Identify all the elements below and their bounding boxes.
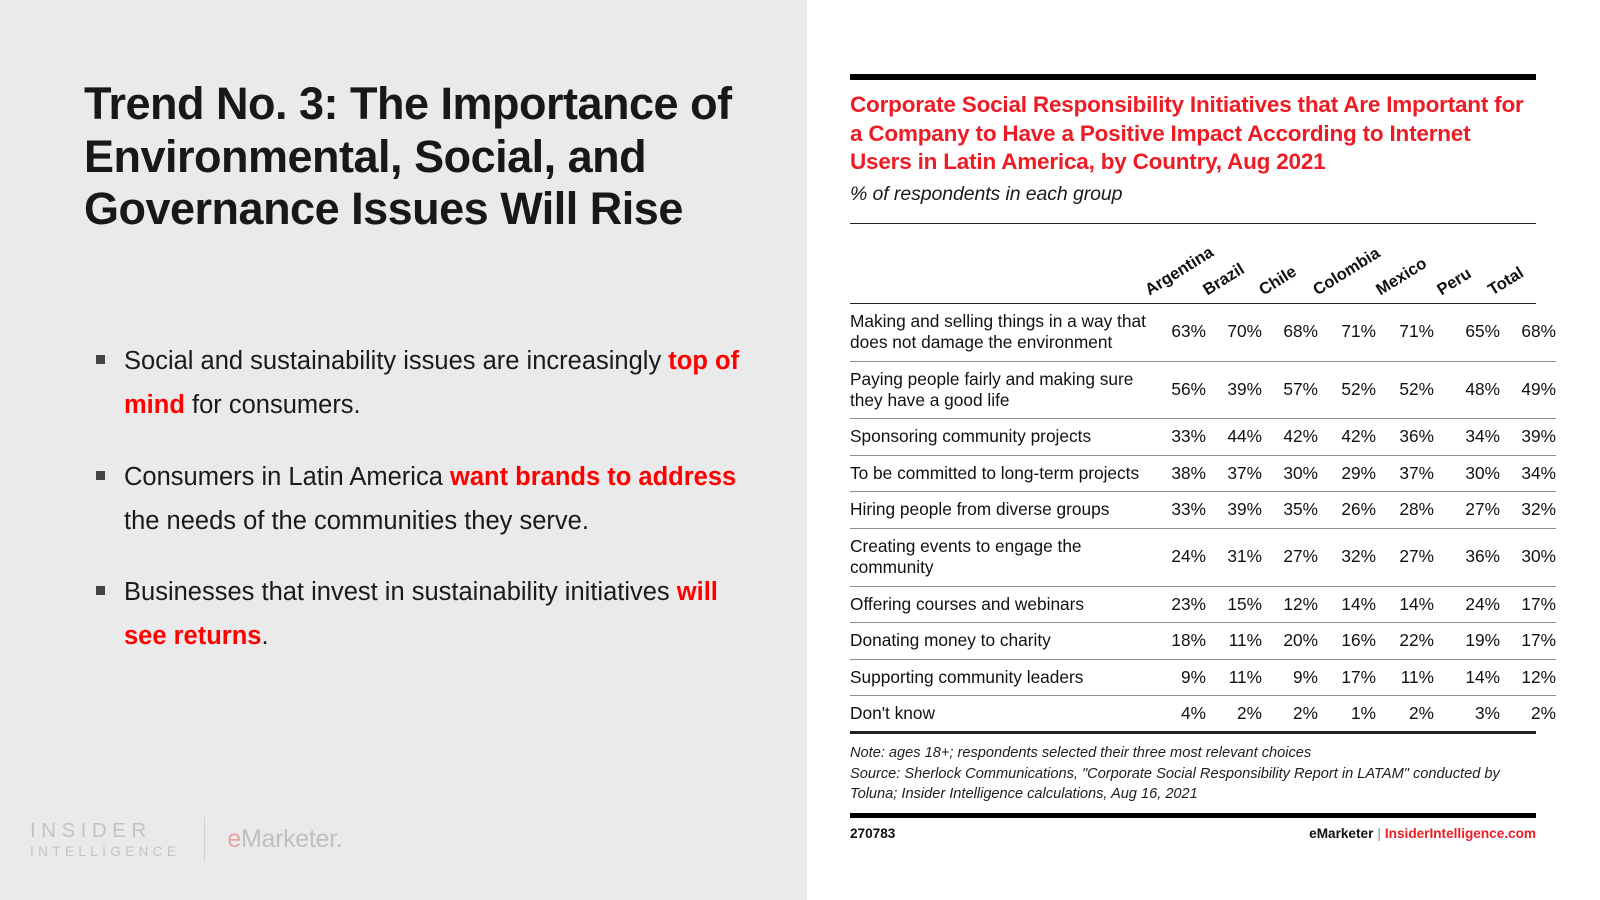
table-column-header-row: ArgentinaBrazilChileColombiaMexicoPeruTo… xyxy=(850,223,1536,304)
cell-peru: 48% xyxy=(1434,361,1500,419)
cell-total: 39% xyxy=(1500,419,1556,455)
cell-colombia: 71% xyxy=(1318,304,1376,361)
table-row: Paying people fairly and making sure the… xyxy=(850,361,1556,419)
insider-logo-line1: INSIDER xyxy=(30,818,180,843)
column-header-brazil: Brazil xyxy=(1200,260,1248,300)
cell-brazil: 39% xyxy=(1206,361,1262,419)
table-row: Don't know4%2%2%1%2%3%2% xyxy=(850,695,1556,731)
table-row: Offering courses and webinars23%15%12%14… xyxy=(850,586,1556,622)
cell-total: 68% xyxy=(1500,304,1556,361)
cell-chile: 68% xyxy=(1262,304,1318,361)
table-row: Hiring people from diverse groups33%39%3… xyxy=(850,492,1556,528)
cell-brazil: 31% xyxy=(1206,528,1262,586)
cell-peru: 27% xyxy=(1434,492,1500,528)
cell-total: 30% xyxy=(1500,528,1556,586)
cell-total: 17% xyxy=(1500,623,1556,659)
cell-total: 49% xyxy=(1500,361,1556,419)
cell-colombia: 16% xyxy=(1318,623,1376,659)
chart-card: Corporate Social Responsibility Initiati… xyxy=(850,74,1536,841)
bullet-text-pre: Consumers in Latin America xyxy=(124,463,450,491)
key-takeaways-list: Social and sustainability issues are inc… xyxy=(92,340,742,687)
cell-peru: 36% xyxy=(1434,528,1500,586)
row-label: Paying people fairly and making sure the… xyxy=(850,361,1150,419)
cell-peru: 3% xyxy=(1434,695,1500,731)
cell-total: 34% xyxy=(1500,455,1556,491)
table-row: Supporting community leaders9%11%9%17%11… xyxy=(850,659,1556,695)
cell-peru: 65% xyxy=(1434,304,1500,361)
cell-total: 32% xyxy=(1500,492,1556,528)
bullet-square-icon xyxy=(96,586,105,595)
column-header-colombia: Colombia xyxy=(1310,244,1384,300)
cell-mexico: 27% xyxy=(1376,528,1434,586)
cell-colombia: 14% xyxy=(1318,586,1376,622)
chart-subtitle: % of respondents in each group xyxy=(850,183,1536,206)
list-item: Consumers in Latin America want brands t… xyxy=(92,456,742,544)
cell-brazil: 11% xyxy=(1206,659,1262,695)
bullet-text-emphasis: want brands to address xyxy=(450,463,736,491)
column-header-chile: Chile xyxy=(1256,262,1300,299)
chart-title: Corporate Social Responsibility Initiati… xyxy=(850,91,1536,177)
cell-colombia: 52% xyxy=(1318,361,1376,419)
cell-colombia: 26% xyxy=(1318,492,1376,528)
cell-mexico: 37% xyxy=(1376,455,1434,491)
cell-peru: 30% xyxy=(1434,455,1500,491)
insider-intelligence-logo: INSIDER INTELLIGENCE xyxy=(30,818,180,861)
cell-mexico: 36% xyxy=(1376,419,1434,455)
row-label: Sponsoring community projects xyxy=(850,419,1150,455)
chart-notes: Note: ages 18+; respondents selected the… xyxy=(850,734,1536,812)
bullet-square-icon xyxy=(96,355,105,364)
cell-brazil: 39% xyxy=(1206,492,1262,528)
footer-emarketer: eMarketer xyxy=(1309,826,1373,841)
row-label: Hiring people from diverse groups xyxy=(850,492,1150,528)
table-row: Creating events to engage the community2… xyxy=(850,528,1556,586)
page-title: Trend No. 3: The Importance of Environme… xyxy=(84,78,774,236)
cell-mexico: 22% xyxy=(1376,623,1434,659)
footer-separator: | xyxy=(1373,826,1385,841)
cell-peru: 19% xyxy=(1434,623,1500,659)
row-label: Making and selling things in a way that … xyxy=(850,304,1150,361)
table-row: Sponsoring community projects33%44%42%42… xyxy=(850,419,1556,455)
cell-chile: 57% xyxy=(1262,361,1318,419)
cell-argentina: 18% xyxy=(1150,623,1206,659)
cell-brazil: 37% xyxy=(1206,455,1262,491)
cell-total: 12% xyxy=(1500,659,1556,695)
emarketer-logo-text: Marketer. xyxy=(241,825,343,853)
bullet-text-post: for consumers. xyxy=(185,391,361,419)
cell-chile: 20% xyxy=(1262,623,1318,659)
chart-footer: 270783 eMarketer|InsiderIntelligence.com xyxy=(850,818,1536,841)
cell-mexico: 71% xyxy=(1376,304,1434,361)
column-header-peru: Peru xyxy=(1434,264,1475,300)
data-table: Making and selling things in a way that … xyxy=(850,304,1556,732)
row-label: To be committed to long-term projects xyxy=(850,455,1150,491)
cell-peru: 14% xyxy=(1434,659,1500,695)
cell-chile: 35% xyxy=(1262,492,1318,528)
bullet-text-post: the needs of the communities they serve. xyxy=(124,507,589,535)
cell-brazil: 44% xyxy=(1206,419,1262,455)
cell-brazil: 15% xyxy=(1206,586,1262,622)
chart-id: 270783 xyxy=(850,826,895,841)
bullet-text-post: . xyxy=(262,622,269,650)
row-label: Donating money to charity xyxy=(850,623,1150,659)
cell-total: 17% xyxy=(1500,586,1556,622)
emarketer-logo-e: e xyxy=(227,825,241,853)
cell-colombia: 32% xyxy=(1318,528,1376,586)
row-label: Don't know xyxy=(850,695,1150,731)
footer-site-link[interactable]: InsiderIntelligence.com xyxy=(1385,826,1536,841)
cell-argentina: 38% xyxy=(1150,455,1206,491)
cell-chile: 12% xyxy=(1262,586,1318,622)
cell-chile: 9% xyxy=(1262,659,1318,695)
chart-top-rule xyxy=(850,74,1536,80)
cell-chile: 30% xyxy=(1262,455,1318,491)
cell-mexico: 2% xyxy=(1376,695,1434,731)
cell-chile: 42% xyxy=(1262,419,1318,455)
bullet-text-pre: Social and sustainability issues are inc… xyxy=(124,347,668,375)
cell-brazil: 70% xyxy=(1206,304,1262,361)
table-row: Making and selling things in a way that … xyxy=(850,304,1556,361)
table-row: Donating money to charity18%11%20%16%22%… xyxy=(850,623,1556,659)
logo-divider xyxy=(204,817,205,861)
cell-argentina: 33% xyxy=(1150,492,1206,528)
insider-logo-line2: INTELLIGENCE xyxy=(30,843,180,861)
cell-brazil: 2% xyxy=(1206,695,1262,731)
cell-peru: 24% xyxy=(1434,586,1500,622)
row-label: Creating events to engage the community xyxy=(850,528,1150,586)
bullet-text-pre: Businesses that invest in sustainability… xyxy=(124,578,677,606)
cell-mexico: 11% xyxy=(1376,659,1434,695)
cell-mexico: 28% xyxy=(1376,492,1434,528)
cell-argentina: 24% xyxy=(1150,528,1206,586)
cell-total: 2% xyxy=(1500,695,1556,731)
cell-colombia: 17% xyxy=(1318,659,1376,695)
cell-colombia: 29% xyxy=(1318,455,1376,491)
cell-peru: 34% xyxy=(1434,419,1500,455)
left-content-panel: Trend No. 3: The Importance of Environme… xyxy=(0,0,807,900)
cell-colombia: 42% xyxy=(1318,419,1376,455)
emarketer-logo: eMarketer. xyxy=(227,825,342,854)
list-item: Businesses that invest in sustainability… xyxy=(92,571,742,659)
cell-argentina: 33% xyxy=(1150,419,1206,455)
cell-argentina: 63% xyxy=(1150,304,1206,361)
column-header-total: Total xyxy=(1485,263,1527,299)
row-label: Offering courses and webinars xyxy=(850,586,1150,622)
footer-brand: eMarketer|InsiderIntelligence.com xyxy=(1309,826,1536,841)
cell-colombia: 1% xyxy=(1318,695,1376,731)
cell-brazil: 11% xyxy=(1206,623,1262,659)
row-label: Supporting community leaders xyxy=(850,659,1150,695)
cell-chile: 2% xyxy=(1262,695,1318,731)
cell-chile: 27% xyxy=(1262,528,1318,586)
slide: Trend No. 3: The Importance of Environme… xyxy=(0,0,1600,900)
chart-note: Note: ages 18+; respondents selected the… xyxy=(850,743,1536,763)
cell-argentina: 4% xyxy=(1150,695,1206,731)
brand-logo-group: INSIDER INTELLIGENCE eMarketer. xyxy=(30,816,342,862)
bullet-square-icon xyxy=(96,471,105,480)
table-row: To be committed to long-term projects38%… xyxy=(850,455,1556,491)
chart-source: Source: Sherlock Communications, "Corpor… xyxy=(850,764,1536,804)
cell-argentina: 23% xyxy=(1150,586,1206,622)
right-chart-panel: Corporate Social Responsibility Initiati… xyxy=(807,0,1600,900)
cell-argentina: 56% xyxy=(1150,361,1206,419)
cell-mexico: 14% xyxy=(1376,586,1434,622)
list-item: Social and sustainability issues are inc… xyxy=(92,340,742,428)
cell-mexico: 52% xyxy=(1376,361,1434,419)
cell-argentina: 9% xyxy=(1150,659,1206,695)
